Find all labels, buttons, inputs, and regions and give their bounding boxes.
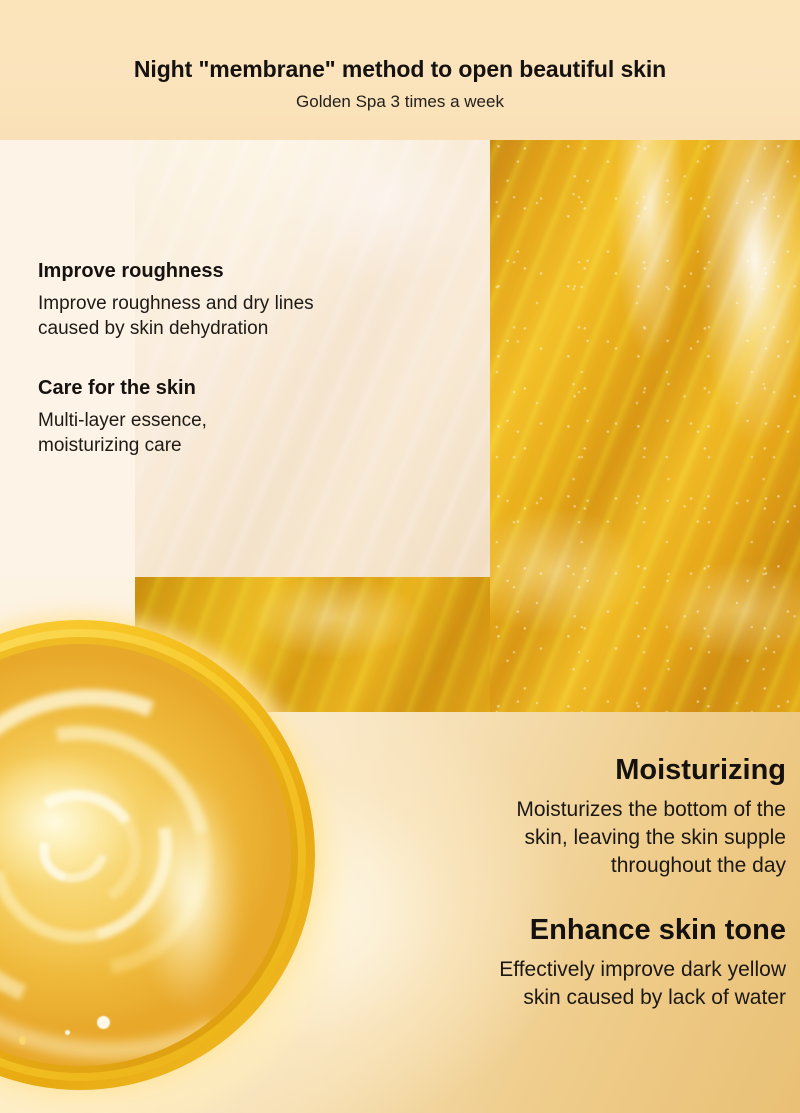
product-detail-page: Night "membrane" method to open beautifu…	[0, 0, 800, 1113]
gold-texture-center-lower-image	[135, 577, 490, 712]
feature-body: Moisturizes the bottom of the skin, leav…	[330, 796, 786, 880]
feature-heading: Moisturizing	[330, 752, 786, 788]
feature-heading: Improve roughness	[38, 258, 508, 284]
bottom-feature-list: Moisturizing Moisturizes the bottom of t…	[330, 752, 786, 1012]
feature-body: Improve roughness and dry lines caused b…	[38, 291, 508, 341]
middle-section: Improve roughness Improve roughness and …	[0, 140, 800, 712]
feature-block-improve-roughness: Improve roughness Improve roughness and …	[38, 258, 508, 341]
feature-block-care-for-the-skin: Care for the skin Multi-layer essence, m…	[38, 375, 508, 458]
feature-block-enhance-skin-tone: Enhance skin tone Effectively improve da…	[330, 912, 786, 1012]
header-band: Night "membrane" method to open beautifu…	[0, 0, 800, 140]
feature-heading: Enhance skin tone	[330, 912, 786, 948]
page-subtitle: Golden Spa 3 times a week	[0, 91, 800, 113]
feature-body: Multi-layer essence, moisturizing care	[38, 408, 508, 458]
page-title: Night "membrane" method to open beautifu…	[0, 55, 800, 83]
middle-feature-list: Improve roughness Improve roughness and …	[38, 258, 508, 458]
feature-block-moisturizing: Moisturizing Moisturizes the bottom of t…	[330, 752, 786, 880]
feature-heading: Care for the skin	[38, 375, 508, 401]
gold-texture-right-image	[490, 140, 800, 712]
feature-body: Effectively improve dark yellow skin cau…	[330, 956, 786, 1012]
